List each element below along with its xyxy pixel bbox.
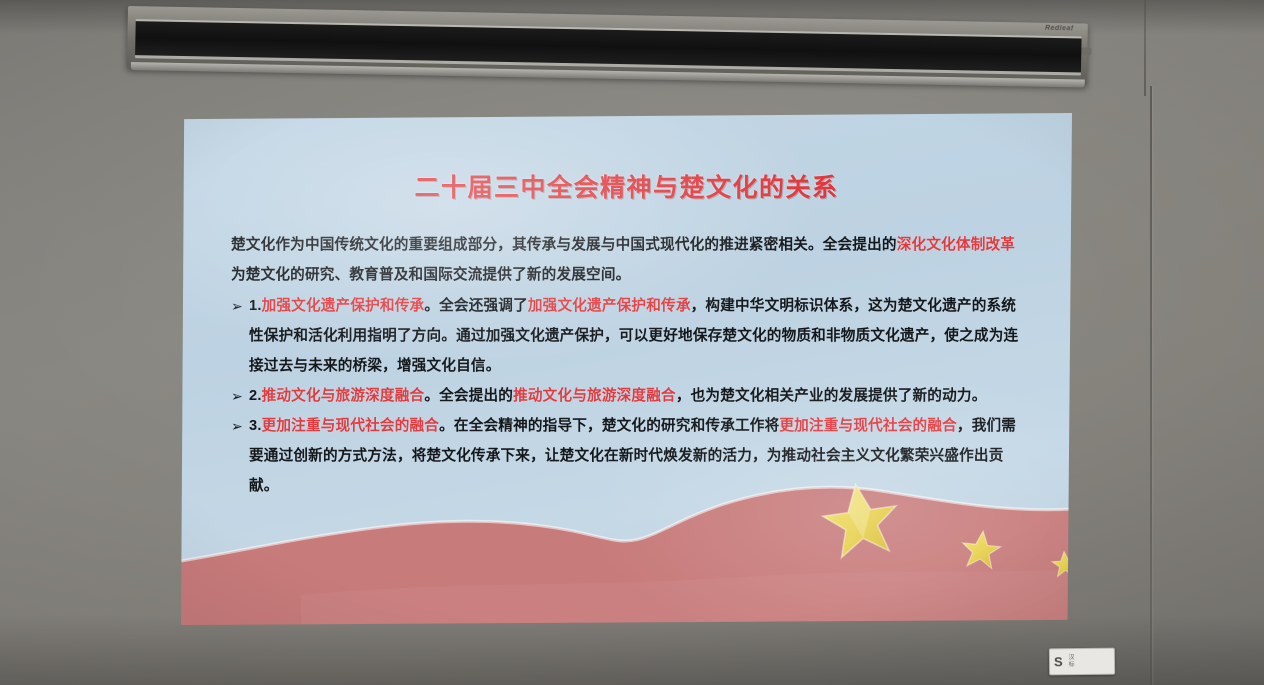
bullet-arrow-icon: ➢ <box>231 411 249 501</box>
bullet-1-heading: 加强文化遗产保护和传承 <box>262 298 425 314</box>
sticker-small-text: 汉 标 <box>1069 655 1075 668</box>
bullet-2-text: 2.推动文化与旅游深度融合。全会提出的推动文化与旅游深度融合，也为楚文化相关产业… <box>249 381 1026 411</box>
wall-panel-seam <box>1150 86 1152 685</box>
sticker-glyph-icon: S <box>1054 655 1063 668</box>
bullet-item-1: ➢ 1.加强文化遗产保护和传承。全会还强调了加强文化遗产保护和传承，构建中华文明… <box>227 291 1026 381</box>
bullet-1-highlight: 加强文化遗产保护和传承 <box>528 298 691 314</box>
bullet-2-number: 2. <box>249 388 262 404</box>
lead-paragraph: 楚文化作为中国传统文化的重要组成部分，其传承与发展与中国式现代化的推进紧密相关。… <box>227 230 1026 290</box>
bullet-2-text-b: ，也为楚文化相关产业的发展提供了新的动力。 <box>676 388 987 404</box>
slide-title: 二十届三中全会精神与楚文化的关系 <box>227 168 1026 204</box>
slide-body: 楚文化作为中国传统文化的重要组成部分，其传承与发展与中国式现代化的推进紧密相关。… <box>227 230 1026 501</box>
lead-part1: 楚文化作为中国传统文化的重要组成部分，其传承与发展与中国式现代化的推进紧密相关。… <box>231 237 897 253</box>
bullet-3-highlight: 更加注重与现代社会的融合 <box>779 418 957 434</box>
roller-end-knob <box>1081 47 1091 55</box>
presentation-slide: 二十届三中全会精神与楚文化的关系 楚文化作为中国传统文化的重要组成部分，其传承与… <box>181 113 1072 625</box>
bullet-arrow-icon: ➢ <box>231 291 249 381</box>
wall-panel-seam-upper <box>1144 0 1146 96</box>
bullet-3-heading: 更加注重与现代社会的融合 <box>262 418 440 434</box>
roller-brand-text: Redleaf <box>1045 25 1074 33</box>
bullet-2-heading: 推动文化与旅游深度融合 <box>262 388 425 404</box>
bullet-item-3: ➢ 3.更加注重与现代社会的融合。在全会精神的指导下，楚文化的研究和传承工作将更… <box>227 411 1026 501</box>
lead-highlight: 深化文化体制改革 <box>897 237 1015 253</box>
bullet-arrow-icon: ➢ <box>231 381 249 411</box>
slide-content: 二十届三中全会精神与楚文化的关系 楚文化作为中国传统文化的重要组成部分，其传承与… <box>181 113 1072 625</box>
bullet-2-text-a: 。全会提出的 <box>424 388 513 404</box>
bullet-1-text: 1.加强文化遗产保护和传承。全会还强调了加强文化遗产保护和传承，构建中华文明标识… <box>249 291 1026 381</box>
bullet-3-text-a: 。在全会精神的指导下，楚文化的研究和传承工作将 <box>439 418 779 434</box>
bullet-3-number: 3. <box>249 418 262 434</box>
bullet-1-text-a: 。全会还强调了 <box>424 298 528 314</box>
projection-area: 二十届三中全会精神与楚文化的关系 楚文化作为中国传统文化的重要组成部分，其传承与… <box>181 113 1072 625</box>
lead-part2: 为楚文化的研究、教育普及和国际交流提供了新的发展空间。 <box>231 267 630 283</box>
bullet-3-text: 3.更加注重与现代社会的融合。在全会精神的指导下，楚文化的研究和传承工作将更加注… <box>249 411 1026 501</box>
bullet-2-highlight: 推动文化与旅游深度融合 <box>513 388 676 404</box>
bullet-1-number: 1. <box>249 298 262 314</box>
wall-sticker-label: S 汉 标 <box>1049 648 1115 676</box>
bullet-item-2: ➢ 2.推动文化与旅游深度融合。全会提出的推动文化与旅游深度融合，也为楚文化相关… <box>227 381 1026 411</box>
photo-scene: Redleaf S 汉 标 <box>0 0 1264 685</box>
